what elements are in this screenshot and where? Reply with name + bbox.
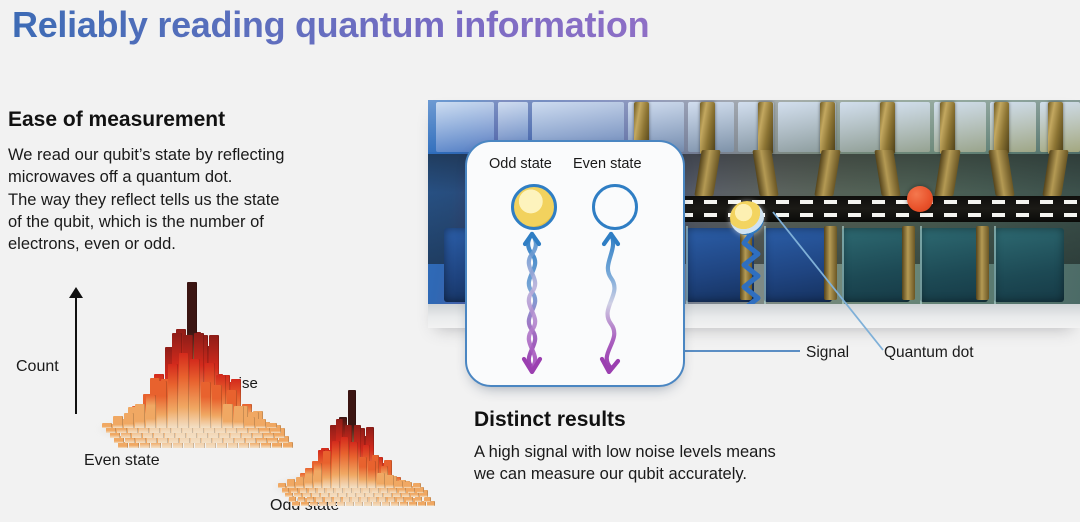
histogram-bar — [350, 442, 358, 488]
quantum-dot-marker — [730, 201, 764, 235]
histogram-bar — [386, 475, 394, 488]
histogram-bar — [323, 451, 331, 488]
left-section: Ease of measurement We read our qubit’s … — [8, 108, 408, 255]
chip-edge-glow — [842, 226, 844, 304]
chip-teal-panel — [842, 228, 910, 302]
histogram-bar — [305, 468, 313, 488]
distinct-results-paragraph: A high signal with low noise levels mean… — [474, 441, 914, 486]
histogram-bar — [395, 481, 403, 488]
histogram-bar — [341, 437, 349, 488]
histogram-bar — [245, 417, 255, 428]
histogram-bar — [377, 473, 385, 488]
paragraph-line: electrons, even or odd. — [8, 233, 408, 255]
histogram-bar — [413, 483, 421, 488]
histogram-bar — [427, 501, 435, 506]
histogram-bar — [296, 477, 304, 488]
histogram-bar — [359, 457, 367, 488]
histogram-bar — [424, 497, 432, 502]
histogram-bar — [256, 419, 266, 428]
histogram-bar — [124, 413, 134, 428]
signal-label: Signal — [806, 344, 849, 362]
signal-leader-line — [666, 350, 800, 352]
even-state-single-wave-icon — [591, 228, 631, 374]
chip-gate-top — [758, 102, 773, 154]
histogram-bar — [179, 353, 189, 428]
histogram-bar — [292, 501, 300, 506]
chip-teal-panel — [994, 228, 1064, 302]
paragraph-line: of the qubit, which is the number of — [8, 211, 408, 233]
paragraph-line: The way they reflect tells us the state — [8, 189, 408, 211]
histogram-bar — [404, 482, 412, 488]
count-axis-label: Count — [16, 358, 59, 376]
chip-edge-glow — [686, 226, 688, 304]
chip-gate-top — [940, 102, 955, 154]
count-axis-line — [75, 294, 77, 414]
chip-gate-top — [820, 102, 835, 154]
even-state-peak — [96, 288, 276, 440]
chip-edge-glow — [764, 226, 766, 304]
histogram-bar — [102, 423, 112, 428]
state-comparison-card: Odd state Even state — [465, 140, 685, 387]
chip-gate-top — [1048, 102, 1063, 154]
histogram-bar — [190, 359, 200, 428]
histogram-bar — [234, 406, 244, 428]
chip-edge-glow — [994, 226, 996, 304]
paragraph-line: we can measure our qubit accurately. — [474, 463, 914, 485]
ease-of-measurement-heading: Ease of measurement — [8, 108, 408, 132]
histogram-bar — [168, 364, 178, 428]
chip-gate-top — [700, 102, 715, 154]
paragraph-line: We read our qubit’s state by reflecting — [8, 144, 408, 166]
histogram-bar — [267, 423, 277, 428]
histogram-bar — [201, 382, 211, 428]
chip-blue-panel — [764, 228, 832, 302]
chip-gate-stem — [976, 226, 989, 300]
right-section: Distinct results A high signal with low … — [474, 408, 914, 486]
histogram-bar — [146, 395, 156, 428]
odd-state-double-wave-icon — [509, 228, 555, 374]
histogram-bar — [283, 442, 293, 448]
histogram-bar — [212, 385, 222, 428]
chip-gate-top — [994, 102, 1009, 154]
chip-gate-top — [880, 102, 895, 154]
contact-dot-right — [907, 186, 933, 212]
chip-gate-stem — [824, 226, 837, 300]
chip-edge-glow — [920, 226, 922, 304]
histogram-bar — [157, 381, 167, 428]
histogram-bar — [287, 479, 295, 488]
even-state-title: Even state — [573, 156, 642, 172]
histogram-bar — [332, 441, 340, 488]
paragraph-line: A high signal with low noise levels mean… — [474, 441, 914, 463]
even-state-dot-empty-icon — [592, 184, 638, 230]
chip-top-cell — [890, 102, 930, 152]
chip-gate-stem — [902, 226, 915, 300]
histogram-bar — [223, 404, 233, 428]
histogram-bar — [278, 483, 286, 488]
distinct-results-heading: Distinct results — [474, 408, 914, 432]
even-state-label: Even state — [84, 452, 160, 470]
ease-of-measurement-paragraph: We read our qubit’s state by reflecting … — [8, 144, 408, 255]
odd-state-dot-filled-icon — [511, 184, 557, 230]
histogram-bar — [368, 461, 376, 488]
histogram-bar — [113, 416, 123, 428]
histogram-bar — [314, 463, 322, 488]
quantum-dot-label: Quantum dot — [884, 344, 974, 362]
odd-state-peak — [272, 386, 410, 498]
odd-state-title: Odd state — [489, 156, 552, 172]
histogram-illustration: Count noise Even state Odd state — [0, 278, 430, 522]
histogram-bar — [135, 404, 145, 428]
page-title: Reliably reading quantum information — [12, 4, 649, 46]
paragraph-line: microwaves off a quantum dot. — [8, 166, 408, 188]
histogram-bar — [418, 501, 426, 506]
